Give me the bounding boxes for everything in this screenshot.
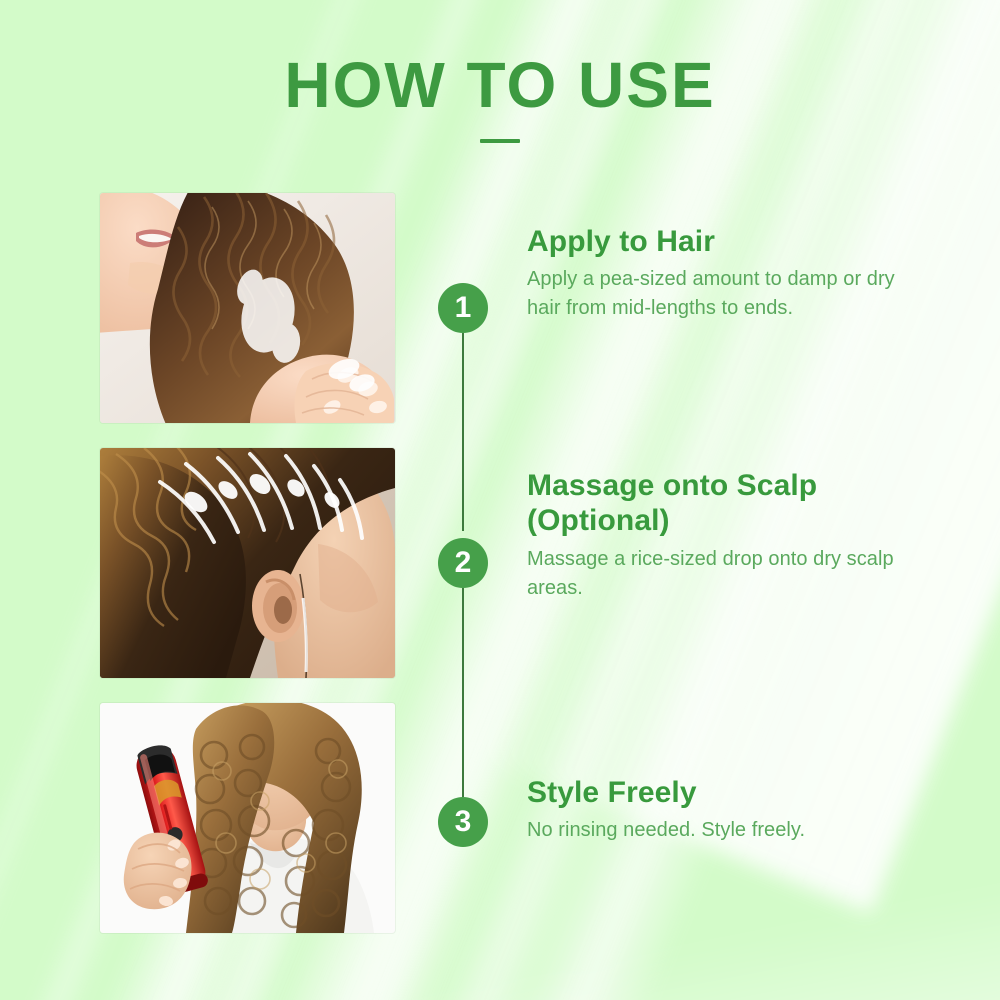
step-number-badge: 1 [438,283,488,333]
styling-curler-photo-icon [100,703,395,933]
step-title: Style Freely [527,775,912,810]
step-photo-2 [100,448,395,678]
step-body: No rinsing needed. Style freely. [527,816,912,845]
hair-application-photo-icon [100,193,395,423]
step-number-badge: 3 [438,797,488,847]
step-copy-3: Style Freely No rinsing needed. Style fr… [527,775,912,845]
step-connector-line [462,638,464,797]
step-body: Massage a rice-sized drop onto dry scalp… [527,545,912,603]
step-photo-1 [100,193,395,423]
step-number-badge: 2 [438,538,488,588]
step-copy-2: Massage onto Scalp (Optional) Massage a … [527,468,912,603]
step-connector-line [462,333,464,531]
step-title: Apply to Hair [527,224,912,259]
how-to-use-infographic: HOW TO USE [0,0,1000,1000]
step-title: Massage onto Scalp (Optional) [527,468,912,539]
step-body: Apply a pea-sized amount to damp or dry … [527,265,912,323]
steps-list: 1 Apply to Hair Apply a pea-sized amount… [0,0,1000,1000]
step-photo-3 [100,703,395,933]
scalp-massage-photo-icon [100,448,395,678]
step-copy-1: Apply to Hair Apply a pea-sized amount t… [527,224,912,323]
